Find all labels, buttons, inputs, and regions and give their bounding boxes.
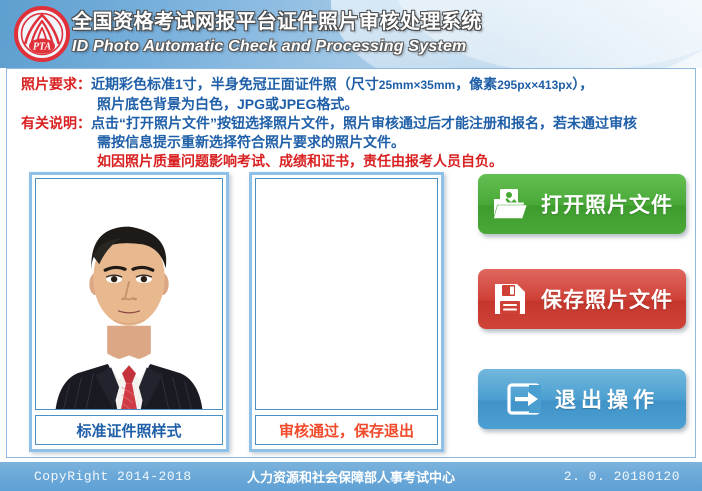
- sample-caption-box: 标准证件照样式: [35, 415, 223, 445]
- requirement-line2: 照片底色背景为白色，JPG或JPEG格式。: [97, 95, 358, 114]
- requirement-text-e: ），: [572, 76, 593, 92]
- save-photo-button-label: 保存照片文件: [541, 284, 673, 314]
- app-title-en: ID Photo Automatic Check and Processing …: [72, 36, 482, 58]
- sample-caption-text: 标准证件照样式: [76, 420, 181, 441]
- open-photo-button[interactable]: 打开照片文件: [478, 174, 686, 234]
- instruction-row-1: 有关说明： 点击“打开照片文件”按钮选择照片文件，照片审核通过后才能注册和报名，…: [21, 114, 691, 133]
- requirement-text-c: ，像素: [455, 76, 497, 92]
- exit-arrow-icon: [505, 380, 543, 418]
- exit-button[interactable]: 退出操作: [478, 369, 686, 429]
- instruction-label: 有关说明：: [21, 114, 91, 133]
- requirement-label: 照片要求：: [21, 75, 91, 94]
- app-header: PTA 全国资格考试网报平台证件照片审核处理系统 ID Photo Automa…: [0, 0, 702, 68]
- svg-text:PTA: PTA: [33, 42, 52, 53]
- footer-version: 2. 0. 20180120: [564, 469, 680, 484]
- requirement-row-1: 照片要求： 近期彩色标准1寸，半身免冠正面证件照（尺寸25mm×35mm，像素2…: [21, 75, 691, 95]
- exit-button-label: 退出操作: [555, 384, 659, 414]
- result-photo-area[interactable]: [255, 178, 438, 410]
- requirement-row-2: 照片底色背景为白色，JPG或JPEG格式。: [21, 95, 691, 114]
- sample-portrait-image: [36, 179, 222, 409]
- title-block: 全国资格考试网报平台证件照片审核处理系统 ID Photo Automatic …: [72, 8, 482, 58]
- instruction-row-3: 如因照片质量问题影响考试、成绩和证书，责任由报考人员自负。: [21, 152, 691, 171]
- sample-photo-panel: 标准证件照样式: [29, 172, 229, 452]
- instruction-row-2: 需按信息提示重新选择符合照片要求的照片文件。: [21, 133, 691, 152]
- app-window: PTA 全国资格考试网报平台证件照片审核处理系统 ID Photo Automa…: [0, 0, 702, 491]
- result-photo-panel[interactable]: 审核通过，保存退出: [249, 172, 444, 452]
- floppy-disk-save-icon: [491, 280, 529, 318]
- header-gradient-fade: [492, 0, 702, 68]
- requirement-pixels: 295px×413px: [497, 78, 572, 92]
- result-status-text: 审核通过，保存退出: [279, 420, 414, 441]
- result-caption-box: 审核通过，保存退出: [255, 415, 438, 445]
- open-photo-button-label: 打开照片文件: [541, 189, 673, 219]
- requirement-size: 25mm×35mm: [379, 78, 455, 92]
- main-frame: 照片要求： 近期彩色标准1寸，半身免冠正面证件照（尺寸25mm×35mm，像素2…: [6, 68, 696, 458]
- instruction-line1: 点击“打开照片文件”按钮选择照片文件，照片审核通过后才能注册和报名，若未通过审核: [91, 114, 637, 133]
- notice-block: 照片要求： 近期彩色标准1寸，半身免冠正面证件照（尺寸25mm×35mm，像素2…: [21, 75, 691, 171]
- open-photo-folder-icon: [491, 185, 529, 223]
- instruction-line2: 需按信息提示重新选择符合照片要求的照片文件。: [97, 133, 405, 152]
- app-footer: CopyRight 2014-2018 人力资源和社会保障部人事考试中心 2. …: [0, 462, 702, 491]
- save-photo-button[interactable]: 保存照片文件: [478, 269, 686, 329]
- pta-logo-icon: PTA: [14, 6, 70, 62]
- sample-photo-area: [35, 178, 223, 410]
- instruction-line3: 如因照片质量问题影响考试、成绩和证书，责任由报考人员自负。: [97, 152, 503, 171]
- requirement-text-a: 近期彩色标准1寸，半身免冠正面证件照（尺寸: [91, 76, 379, 92]
- app-title-cn: 全国资格考试网报平台证件照片审核处理系统: [72, 8, 482, 36]
